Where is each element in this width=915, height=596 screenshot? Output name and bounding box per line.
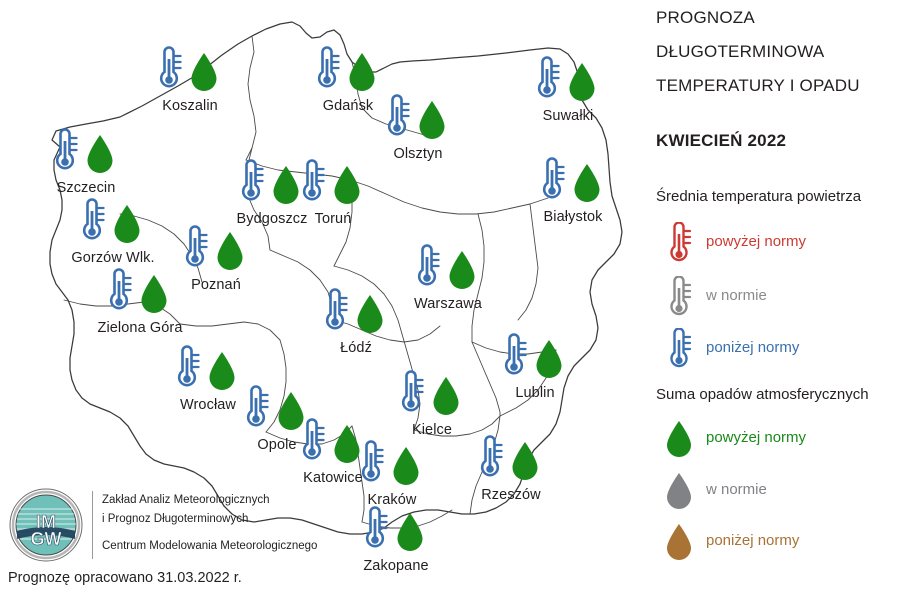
city-label: Rzeszów [481,487,541,503]
thermometer-icon [297,159,327,210]
legend-label-precip-normal: w normie [706,481,767,498]
footer-dept-line-1: Zakład Analiz Meteorologicznych [102,494,269,506]
legend-label-precip-below: poniżej normy [706,532,799,549]
city-label: Gdańsk [323,98,374,114]
droplet-icon [206,349,238,398]
marker-icon-group [532,56,608,108]
thermometer-icon [320,288,350,339]
thermometer-icon [356,440,386,491]
legend-item-temp-above: powyżej normy [656,222,914,266]
city-label: Szczecin [57,180,116,196]
marker-icon-group [312,46,388,98]
droplet-icon [509,439,541,488]
title-line-2: DŁUGOTERMINOWA [656,42,824,62]
marker-icon-group [320,288,396,340]
thermometer-icon [312,46,342,97]
droplet-icon [446,248,478,297]
thermometer-icon [537,157,567,208]
legend-item-temp-below: poniżej normy [656,328,914,372]
city-label: Łódź [340,340,372,356]
droplet-icon [416,98,448,147]
droplet-icon [664,418,694,465]
city-label: Gorzów Wlk. [71,250,154,266]
legend-label-precip-above: powyżej normy [706,429,806,446]
city-label: Wrocław [180,397,236,413]
thermometer-icon [664,222,694,271]
title-line-3: TEMPERATURY I OPADU [656,76,860,96]
thermometer-icon [499,333,529,384]
thermometer-icon [236,159,266,210]
legend-item-precip-below: poniżej normy [656,521,914,565]
droplet-icon [664,521,694,568]
city-label: Katowice [303,470,363,486]
city-label: Zakopane [363,558,428,574]
city-label: Poznań [191,277,241,293]
svg-text:GW: GW [31,529,62,549]
temperature-legend-heading: Średnia temperatura powietrza [656,188,861,205]
thermometer-icon [77,198,107,249]
legend-item-precip-above: powyżej normy [656,418,914,462]
droplet-icon [188,50,220,99]
city-label: Olsztyn [393,146,442,162]
droplet-icon [111,202,143,251]
marker-icon-group [475,435,551,487]
legend-label-temp-above: powyżej normy [706,233,806,250]
droplet-icon [533,337,565,386]
droplet-icon [354,292,386,341]
marker-icon-group [50,128,126,180]
marker-icon-group [396,370,472,422]
city-label: Zielona Góra [97,320,182,336]
forecast-month: KWIECIEŃ 2022 [656,131,786,151]
droplet-icon [664,470,694,517]
footer-divider [92,491,93,559]
thermometer-icon [172,345,202,396]
thermometer-icon [50,128,80,179]
droplet-icon [346,50,378,99]
city-label: Koszalin [162,98,218,114]
droplet-icon [331,163,363,212]
thermometer-icon [532,56,562,107]
thermometer-icon [241,385,271,436]
legend-label-temp-normal: w normie [706,287,767,304]
thermometer-icon [396,370,426,421]
city-label: Białystok [544,209,603,225]
droplet-icon [566,60,598,109]
droplet-icon [394,510,426,559]
city-label: Opole [257,437,296,453]
thermometer-icon [664,328,694,377]
thermometer-icon [412,244,442,295]
city-label: Kielce [412,422,452,438]
thermometer-icon [297,418,327,469]
title-line-1: PROGNOZA [656,8,755,28]
footer-dept-line-2: i Prognoz Długoterminowych [102,513,248,525]
legend-label-temp-below: poniżej normy [706,339,799,356]
thermometer-icon [475,435,505,486]
city-label: Lublin [515,385,554,401]
marker-icon-group [297,159,373,211]
droplet-icon [214,229,246,278]
marker-icon-group [499,333,575,385]
marker-icon-group [360,506,436,558]
marker-icon-group [537,157,613,209]
legend-item-temp-normal: w normie [656,276,914,320]
legend-item-precip-normal: w normie [656,470,914,514]
thermometer-icon [180,225,210,276]
poland-forecast-map: KoszalinGdańskSuwałkiSzczecinOlsztynBydg… [0,0,645,560]
droplet-icon [84,132,116,181]
city-label: Suwałki [543,108,594,124]
marker-icon-group [180,225,256,277]
marker-icon-group [382,94,458,146]
issued-date: Prognozę opracowano 31.03.2022 r. [8,570,242,586]
imgw-logo: IM GW [8,487,84,563]
legend-panel: PROGNOZA DŁUGOTERMINOWA TEMPERATURY I OP… [652,0,915,596]
city-label: Toruń [315,211,352,227]
droplet-icon [571,161,603,210]
droplet-icon [430,374,462,423]
marker-icon-group [412,244,488,296]
city-label: Warszawa [414,296,482,312]
precipitation-legend-heading: Suma opadów atmosferycznych [656,386,869,403]
marker-icon-group [77,198,153,250]
thermometer-icon [664,276,694,325]
droplet-icon [390,444,422,493]
marker-icon-group [154,46,230,98]
footer-credits: IM GW Zakład Analiz Meteorologicznych i … [8,487,338,563]
marker-icon-group [104,268,180,320]
thermometer-icon [154,46,184,97]
marker-icon-group [356,440,432,492]
thermometer-icon [382,94,412,145]
thermometer-icon [104,268,134,319]
thermometer-icon [360,506,390,557]
marker-icon-group [172,345,248,397]
droplet-icon [138,272,170,321]
footer-dept-line-3: Centrum Modelowania Meteorologicznego [102,540,317,552]
